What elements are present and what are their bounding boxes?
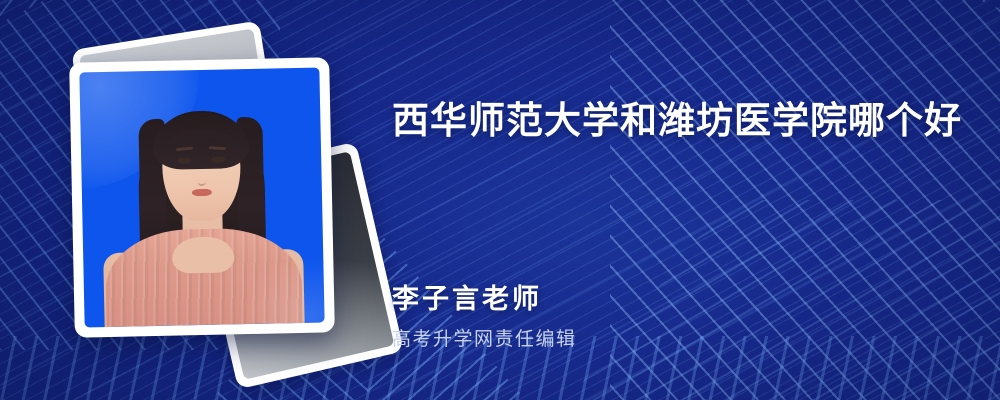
photo-card-stack bbox=[62, 38, 342, 328]
portrait-eye-left bbox=[177, 157, 191, 163]
photo-glare-highlight-secondary bbox=[237, 256, 325, 328]
portrait-mouth bbox=[192, 188, 212, 195]
author-name: 李子言老师 bbox=[392, 277, 542, 316]
portrait-nose bbox=[198, 176, 206, 186]
photo-card-front bbox=[69, 57, 335, 337]
article-hero-banner: 西华师范大学和潍坊医学院哪个好 李子言老师 高考升学网责任编辑 bbox=[0, 0, 1000, 400]
portrait-neckline bbox=[172, 236, 235, 273]
banner-text-column: 西华师范大学和潍坊医学院哪个好 李子言老师 高考升学网责任编辑 bbox=[392, 0, 1000, 400]
portrait-eyebrow-right bbox=[209, 146, 226, 150]
avatar bbox=[79, 68, 324, 328]
portrait-eye-right bbox=[211, 156, 225, 162]
page-title: 西华师范大学和潍坊医学院哪个好 bbox=[392, 98, 972, 144]
author-role: 高考升学网责任编辑 bbox=[392, 324, 577, 351]
